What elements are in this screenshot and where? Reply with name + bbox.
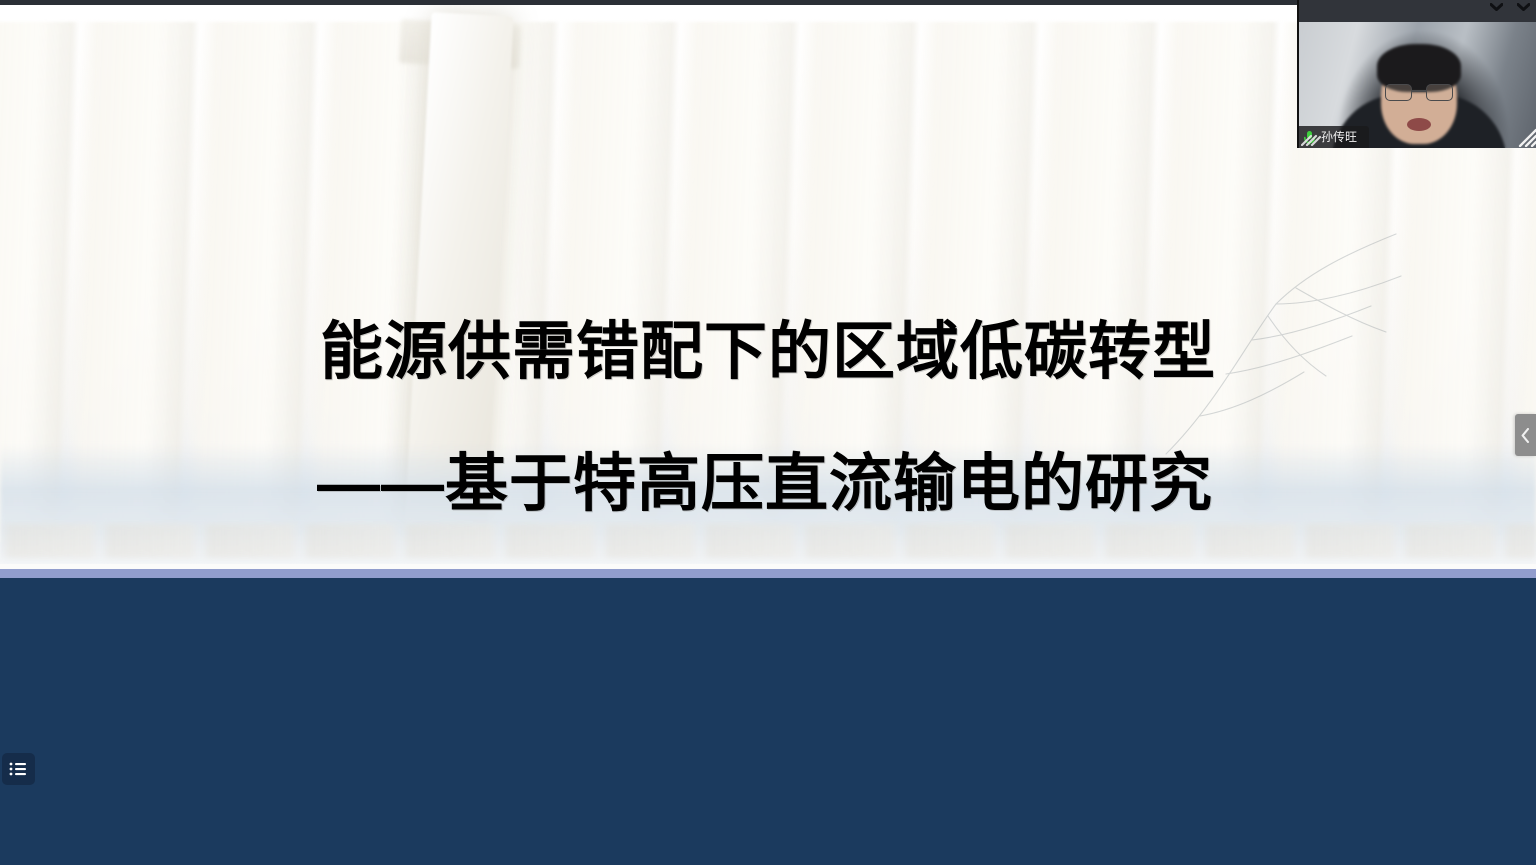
collapse-panel-button[interactable]: [1515, 414, 1536, 456]
participant-video-panel[interactable]: 孙传旺: [1297, 0, 1536, 148]
slide-footer-band: [0, 578, 1536, 865]
screen-share-stage: 能源供需错配下的区域低碳转型 ——基于特高压直流输电的研究 孙传旺、闵嘉琳: [0, 0, 1536, 865]
slide-title-block: 能源供需错配下的区域低碳转型 ——基于特高压直流输电的研究: [0, 286, 1536, 550]
slide-title-line-1: 能源供需错配下的区域低碳转型: [0, 286, 1536, 418]
participant-video-feed: 孙传旺: [1299, 22, 1536, 148]
list-view-icon: [9, 762, 28, 776]
video-panel-titlebar[interactable]: [1299, 0, 1536, 22]
list-view-button[interactable]: [2, 753, 35, 785]
participant-glasses-icon: [1385, 84, 1453, 101]
chevron-down-icon[interactable]: [1517, 3, 1530, 11]
slide-title-line-2: ——基于特高压直流输电的研究: [0, 418, 1536, 550]
participant-mouth: [1407, 118, 1431, 131]
resize-grip-icon[interactable]: [1515, 125, 1536, 147]
chevron-down-icon[interactable]: [1490, 3, 1503, 11]
participant-name-label: 孙传旺: [1321, 131, 1357, 143]
chevron-left-icon: [1521, 428, 1530, 443]
network-signal-icon: [1301, 130, 1321, 146]
slide-accent-stripe: [0, 569, 1536, 578]
